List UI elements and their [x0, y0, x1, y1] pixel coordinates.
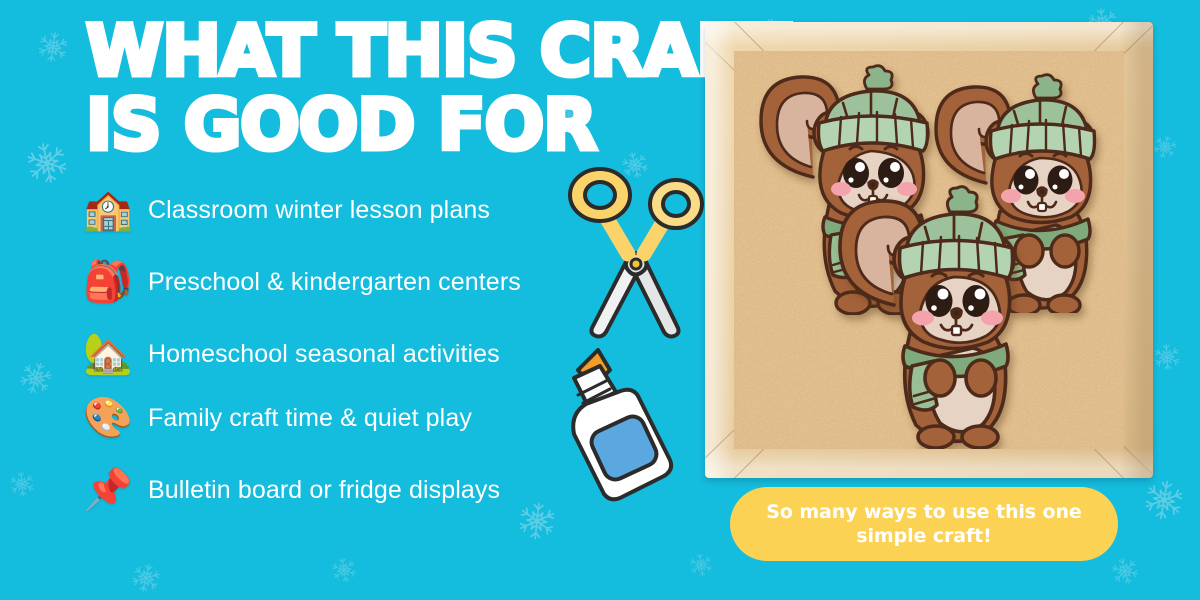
snowflake-icon — [1139, 475, 1190, 526]
status-badge-line-1: So many ways to use this one — [766, 501, 1081, 523]
house-icon: 🏡 — [82, 328, 134, 380]
status-badge-line-2: simple craft! — [856, 525, 991, 547]
craft-display-board — [705, 22, 1153, 478]
benefit-item-label: Homeschool seasonal activities — [148, 340, 500, 369]
status-badge: So many ways to use this one simple craf… — [730, 487, 1118, 561]
page-title: WHAT THIS CRAFT IS GOOD FOR — [86, 18, 706, 158]
snowflake-icon — [1151, 341, 1183, 373]
benefit-item-label: Classroom winter lesson plans — [148, 196, 490, 225]
school-building-icon: 🏫 — [82, 184, 134, 236]
benefit-item-label: Bulletin board or fridge displays — [148, 476, 500, 505]
snowflake-icon — [1106, 552, 1143, 589]
status-badge-text: So many ways to use this one simple craf… — [740, 500, 1107, 549]
glue-bottle-icon — [552, 348, 682, 503]
benefit-item-label: Preschool & kindergarten centers — [148, 268, 521, 297]
scissors-icon — [566, 160, 706, 340]
page-title-line-1: WHAT THIS CRAFT — [86, 18, 706, 85]
snowflake-icon — [1149, 131, 1181, 163]
benefit-item: 🏫Classroom winter lesson plans — [82, 182, 642, 238]
promo-graphic: WHAT THIS CRAFT IS GOOD FOR 🏫Classroom w… — [0, 0, 1200, 600]
page-title-line-2: IS GOOD FOR — [86, 92, 706, 159]
chipmunk-craft-bottom-center — [834, 181, 1040, 449]
backpack-icon: 🎒 — [82, 256, 134, 308]
artist-palette-icon: 🎨 — [82, 392, 134, 444]
cork-board — [734, 51, 1124, 449]
benefit-item-label: Family craft time & quiet play — [148, 404, 472, 433]
benefit-item: 🎒Preschool & kindergarten centers — [82, 246, 642, 318]
bulletin-board-icon: 📌 — [82, 464, 134, 516]
